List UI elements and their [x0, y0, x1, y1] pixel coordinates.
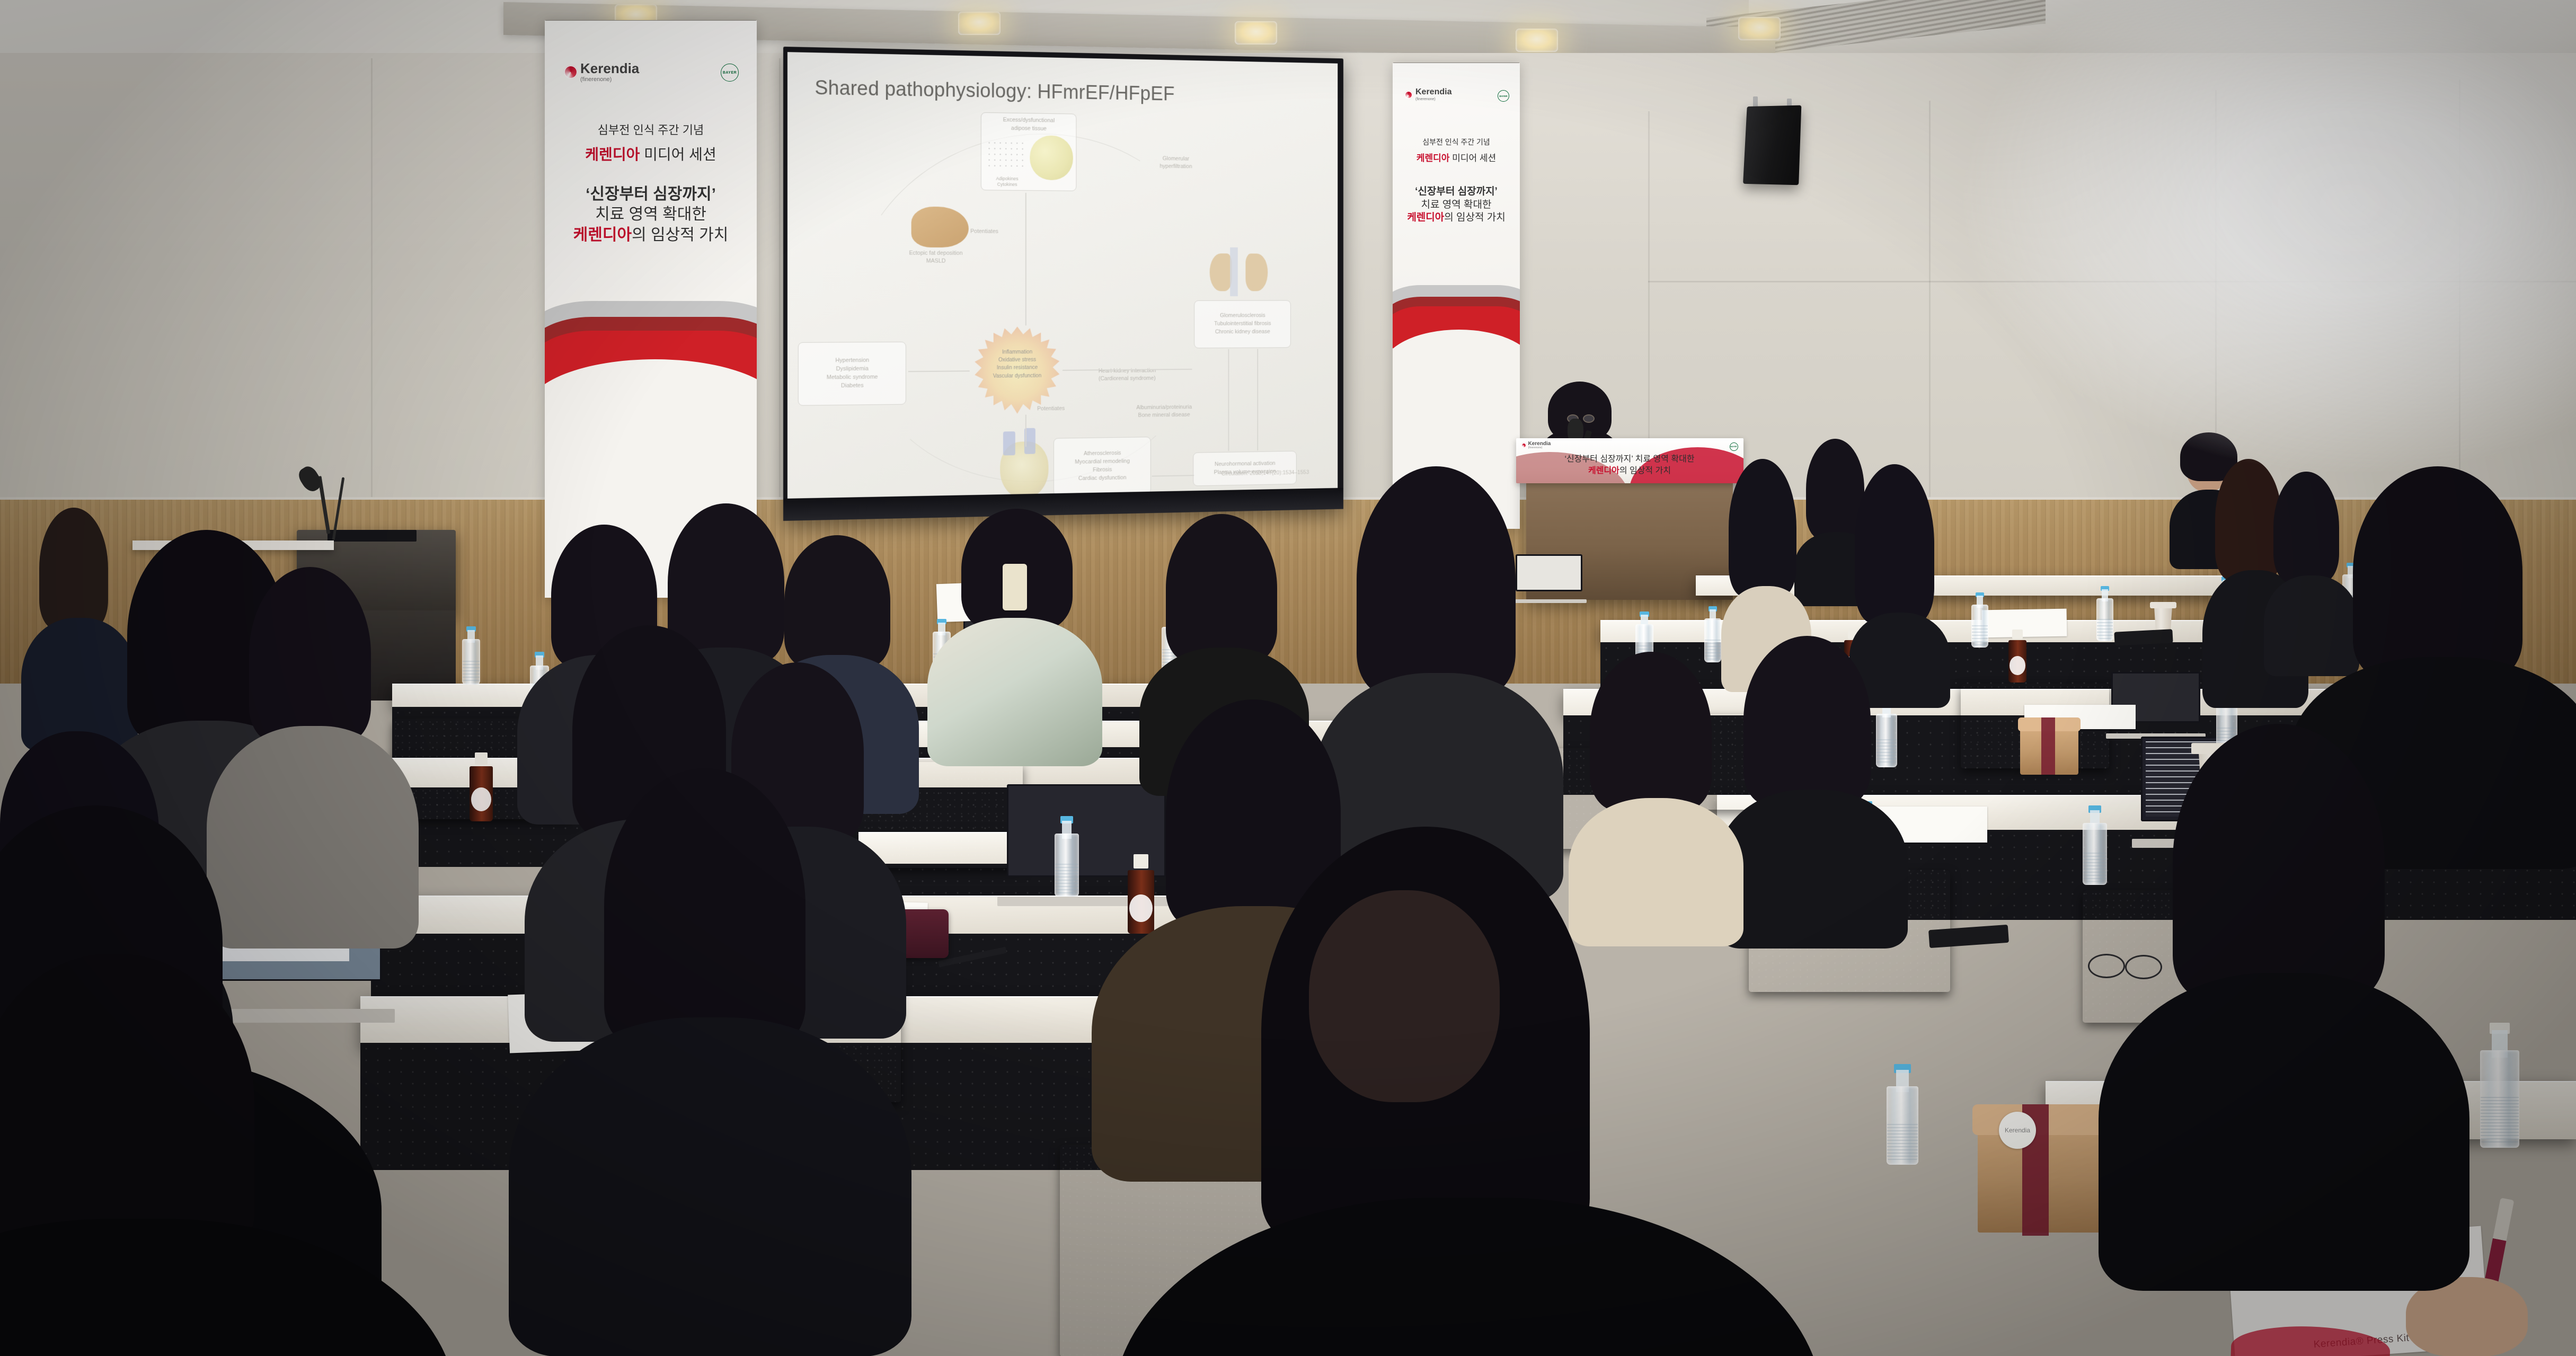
ceiling-downlight	[1516, 29, 1558, 52]
kidney-illustration-left	[1210, 253, 1232, 291]
bayer-logo-icon: BAYER	[1498, 90, 1509, 102]
press-kit-red-wave	[2230, 1324, 2391, 1356]
podium-sign-line1: ‘신장부터 심장까지’ 치료 영역 확대한	[1564, 454, 1694, 465]
water-bottle[interactable]	[1971, 592, 1988, 648]
kerendia-wordmark: Kerendia	[580, 61, 639, 75]
wall-seam	[1929, 101, 1931, 514]
podium-sign-line2-rest: 의 임상적 가치	[1619, 466, 1671, 475]
diagram-node-adipokines-label: Adipokines Cytokines	[985, 175, 1030, 188]
kerendia-logo: Kerendia (finerenone)	[1404, 88, 1451, 101]
gift-box[interactable]	[2020, 722, 2078, 775]
gift-box-kerendia-seal: Kerendia	[1999, 1112, 2036, 1149]
banner-headline-rest: 미디어 세션	[640, 146, 716, 163]
eyeglasses[interactable]	[2088, 954, 2125, 978]
kerendia-generic-name: (finerenone)	[580, 77, 639, 83]
diagram-node-kidney: Glomerulosclerosis Tubulointerstitial fi…	[1194, 300, 1291, 349]
kerendia-swirl-icon	[1404, 91, 1413, 99]
water-bottle[interactable]	[1876, 698, 1897, 767]
bayer-logo-icon: BAYER	[721, 64, 739, 82]
kerendia-swirl-icon	[564, 65, 578, 79]
edge-label-glomerular-hyperfiltration: Glomerular hyperfiltration	[1139, 155, 1212, 171]
banner-headline-rest: 미디어 세션	[1449, 153, 1496, 163]
water-bottle[interactable]	[462, 626, 480, 685]
diagram-arrow	[1257, 349, 1258, 451]
water-bottle[interactable]	[1887, 1064, 1918, 1165]
banner-eyebrow: 심부전 인식 주간 기념	[1393, 137, 1520, 147]
banner-subline-2: 치료 영역 확대한	[545, 205, 757, 225]
podium-sign: Kerendia (finerenone) BAYER ‘신장부터 심장까지’ …	[1516, 438, 1743, 483]
diagram-node-liver-label: Ectopic fat deposition MASLD	[879, 250, 992, 266]
projection-screen: Shared pathophysiology: HFmrEF/HFpEF Exc…	[783, 47, 1343, 521]
water-bottle[interactable]	[2096, 586, 2113, 641]
edge-label-albuminuria: Albuminuria/proteinuria Bone mineral dis…	[1112, 403, 1216, 420]
eyeglasses[interactable]	[2125, 955, 2162, 979]
banner-subline-1: ‘신장부터 심장까지’	[545, 184, 757, 205]
ceiling-downlight	[1738, 17, 1781, 40]
coffee-bottle[interactable]	[2008, 630, 2026, 683]
diagram-node-adipose-label: Excess/dysfunctional adipose tissue	[985, 116, 1072, 134]
kidney-illustration-right	[1245, 253, 1268, 291]
kerendia-logo: Kerendia (finerenone)	[564, 61, 639, 83]
gift-box-ribbon	[2041, 717, 2055, 775]
wall-mounted-speaker	[1743, 105, 1801, 185]
kerendia-swirl-icon	[1521, 442, 1527, 448]
hair-clip	[1003, 564, 1027, 610]
water-bottle[interactable]	[2480, 1023, 2519, 1148]
conference-room-photo: Shared pathophysiology: HFmrEF/HFpEF Exc…	[0, 0, 2576, 1356]
diagram-node-adipose: Excess/dysfunctional adipose tissue Adip…	[981, 112, 1077, 191]
presenter-glasses	[1583, 414, 1595, 423]
adipokine-dots	[986, 140, 1025, 167]
wall-seam	[1648, 281, 2576, 282]
av-laptop-lid	[327, 530, 417, 542]
wall-seam	[779, 58, 781, 514]
banner-brand-highlight: 케렌디아	[585, 146, 640, 163]
diagram-node-core-label: Inflammation Oxidative stress Insulin re…	[975, 348, 1059, 380]
laptop[interactable]	[1516, 554, 1582, 603]
bayer-logo-icon: BAYER	[1730, 442, 1738, 451]
kerendia-wordmark: Kerendia	[1415, 88, 1451, 96]
banner-subline-2: 치료 영역 확대한	[1393, 199, 1520, 212]
kerendia-generic-name: (finerenone)	[1415, 98, 1451, 101]
water-bottle[interactable]	[2083, 805, 2107, 885]
water-bottle[interactable]	[1055, 816, 1079, 897]
banner-subline-3-rest: 의 임상적 가치	[1444, 212, 1505, 223]
attendee-hoodie	[927, 618, 1102, 766]
diagram-node-kidney-label: Glomerulosclerosis Tubulointerstitial fi…	[1214, 312, 1271, 336]
podium-sign-line2-brand: 케렌디아	[1588, 466, 1619, 475]
edge-label-potentiates-liver: Potentiates	[957, 228, 1012, 236]
banner-subline-3-brand: 케렌디아	[1407, 212, 1444, 223]
projected-slide: Shared pathophysiology: HFmrEF/HFpEF Exc…	[787, 52, 1338, 499]
diagram-node-heart-label: Atherosclerosis Myocardial remodeling Fi…	[1075, 449, 1130, 483]
diagram-arrow	[1152, 475, 1194, 476]
diagram-node-heart: Atherosclerosis Myocardial remodeling Fi…	[1054, 437, 1151, 496]
ceiling-downlight	[958, 12, 1001, 35]
diagram-arrow	[1228, 349, 1228, 451]
banner-subline-3-rest: 의 임상적 가치	[632, 226, 728, 244]
wall-seam	[371, 58, 373, 514]
edge-label-potentiates-heart: Potentiates	[1023, 405, 1078, 413]
wall-seam	[2459, 79, 2460, 514]
ceiling-downlight	[1235, 21, 1277, 45]
diagram-arrow	[1025, 193, 1026, 325]
banner-subline-1: ‘신장부터 심장까지’	[1393, 185, 1520, 199]
banner-subline-3-brand: 케렌디아	[573, 226, 632, 244]
podium-kerendia-logo: Kerendia (finerenone)	[1521, 441, 1551, 449]
kidney-ureter	[1230, 247, 1238, 296]
right-rollup-banner: Kerendia (finerenone) BAYER 심부전 인식 주간 기념…	[1393, 63, 1520, 529]
banner-eyebrow: 심부전 인식 주간 기념	[545, 121, 757, 138]
diagram-node-metabolic: Hypertension Dyslipidemia Metabolic synd…	[798, 342, 906, 406]
diagram-node-neurohormonal: Neurohormonal activation Plasma volume e…	[1193, 451, 1296, 486]
adipose-tissue-illustration	[1030, 135, 1073, 180]
podium-brand-sub: (finerenone)	[1528, 447, 1551, 449]
banner-brand-highlight: 케렌디아	[1417, 153, 1450, 163]
water-bottle[interactable]	[1704, 606, 1721, 662]
diagram-arrow	[1025, 415, 1026, 447]
slide-title: Shared pathophysiology: HFmrEF/HFpEF	[815, 77, 1174, 105]
diagram-node-metabolic-label: Hypertension Dyslipidemia Metabolic synd…	[827, 357, 878, 391]
coffee-bottle[interactable]	[470, 752, 493, 821]
coffee-bottle[interactable]	[1128, 854, 1154, 934]
heart-vessel	[1003, 431, 1015, 455]
